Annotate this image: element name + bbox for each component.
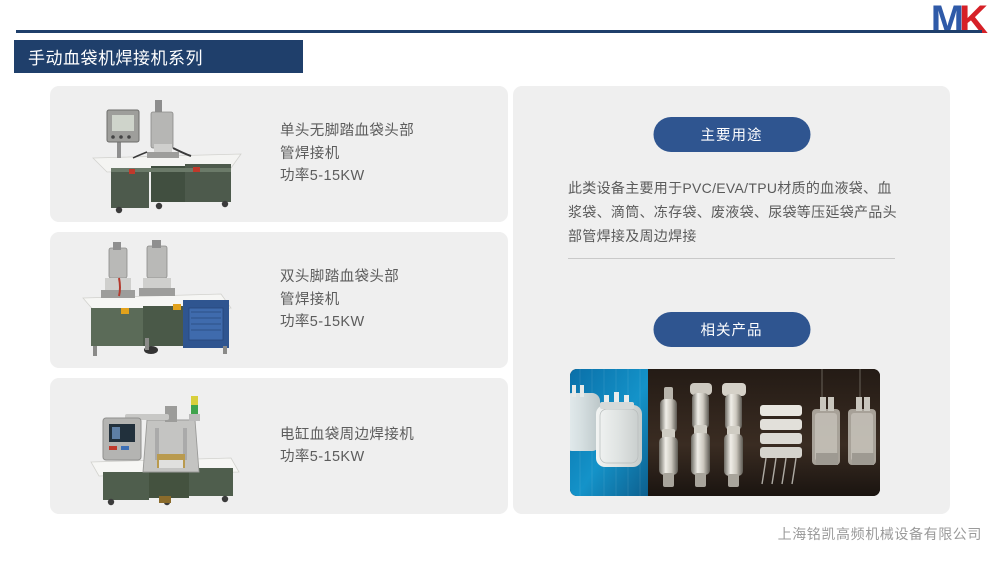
product-card[interactable]: 双头脚踏血袋头部 管焊接机 功率5-15KW — [50, 232, 508, 368]
product-line: 功率5-15KW — [280, 311, 508, 333]
info-panel: 主要用途 此类设备主要用于PVC/EVA/TPU材质的血液袋、血浆袋、滴筒、冻存… — [513, 86, 950, 514]
double-head-pedal-welder-photo — [50, 235, 270, 365]
product-description: 双头脚踏血袋头部 管焊接机 功率5-15KW — [270, 266, 508, 333]
product-line: 管焊接机 — [280, 289, 508, 311]
footer-company-name: 上海铭凯高频机械设备有限公司 — [778, 524, 982, 544]
product-card-list: 单头无脚踏血袋头部 管焊接机 功率5-15KW — [50, 86, 508, 514]
product-description: 单头无脚踏血袋头部 管焊接机 功率5-15KW — [270, 120, 508, 187]
product-line: 管焊接机 — [280, 143, 508, 165]
page-title: 手动血袋机焊接机系列 — [14, 44, 203, 69]
panel-divider — [568, 258, 895, 259]
main-use-description: 此类设备主要用于PVC/EVA/TPU材质的血液袋、血浆袋、滴筒、冻存袋、废液袋… — [568, 176, 898, 248]
product-description: 电缸血袋周边焊接机 功率5-15KW — [270, 424, 508, 469]
main-use-pill-label: 主要用途 — [701, 124, 763, 145]
main-use-pill[interactable]: 主要用途 — [653, 117, 810, 152]
single-head-no-pedal-welder-photo — [50, 89, 270, 219]
related-products-pill[interactable]: 相关产品 — [653, 312, 810, 347]
section-title-bar: 手动血袋机焊接机系列 — [14, 40, 303, 73]
company-logo: MK — [900, 0, 986, 32]
product-card[interactable]: 电缸血袋周边焊接机 功率5-15KW — [50, 378, 508, 514]
product-line: 功率5-15KW — [280, 446, 508, 468]
product-line: 功率5-15KW — [280, 165, 508, 187]
related-products-pill-label: 相关产品 — [701, 319, 763, 340]
slide-root: MK 手动血袋机焊接机系列 — [0, 0, 1000, 562]
product-line: 单头无脚踏血袋头部 — [280, 120, 508, 142]
logo-letter-m: M — [931, 0, 962, 40]
blood-bags-and-drip-chambers-photo — [570, 369, 880, 496]
product-card[interactable]: 单头无脚踏血袋头部 管焊接机 功率5-15KW — [50, 86, 508, 222]
product-line: 电缸血袋周边焊接机 — [280, 424, 508, 446]
logo-letter-k: K — [959, 0, 986, 40]
electric-cylinder-perimeter-welder-photo — [50, 381, 270, 511]
header-divider-rule — [16, 30, 982, 33]
product-line: 双头脚踏血袋头部 — [280, 266, 508, 288]
